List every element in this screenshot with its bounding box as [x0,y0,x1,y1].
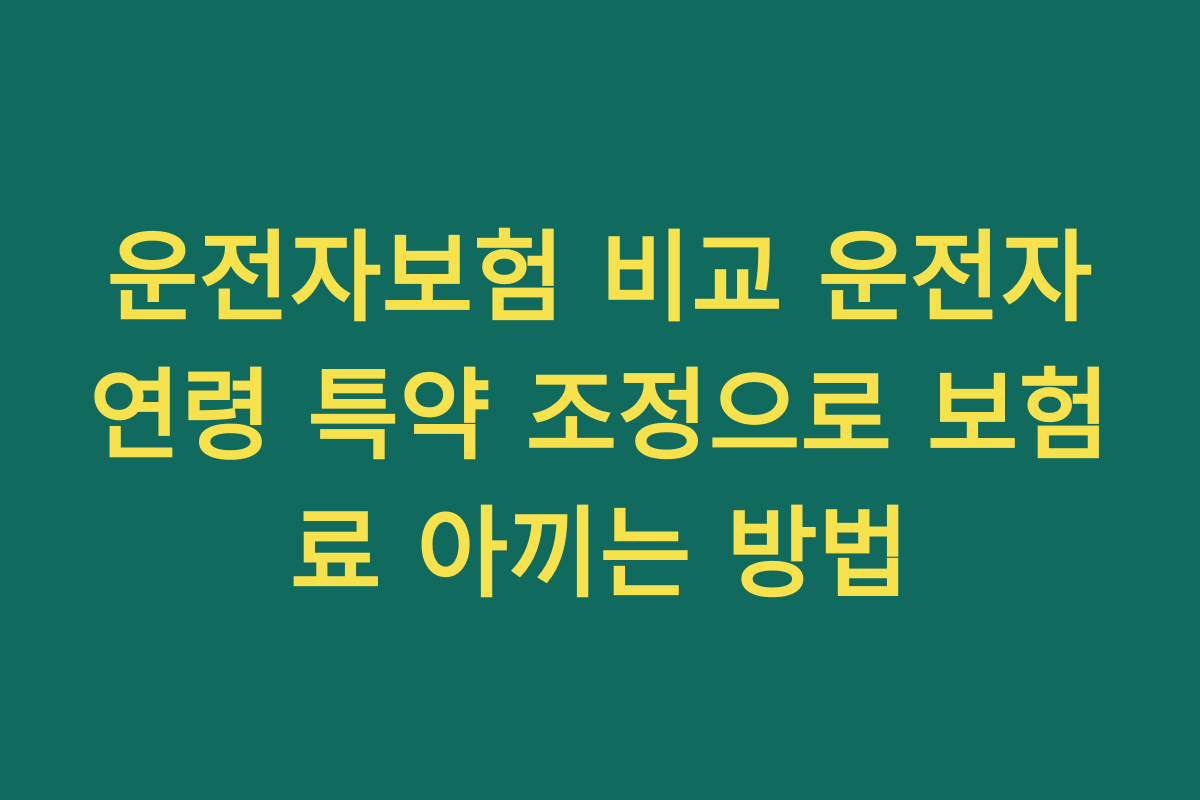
title-card: 운전자보험 비교 운전자 연령 특약 조정으로 보험 료 아끼는 방법 [0,0,1200,800]
title-line-2: 연령 특약 조정으로 보험 [70,348,1130,486]
title-line-3: 료 아끼는 방법 [70,486,1130,624]
page-title: 운전자보험 비교 운전자 연령 특약 조정으로 보험 료 아끼는 방법 [70,210,1130,624]
title-line-1: 운전자보험 비교 운전자 [70,210,1130,348]
